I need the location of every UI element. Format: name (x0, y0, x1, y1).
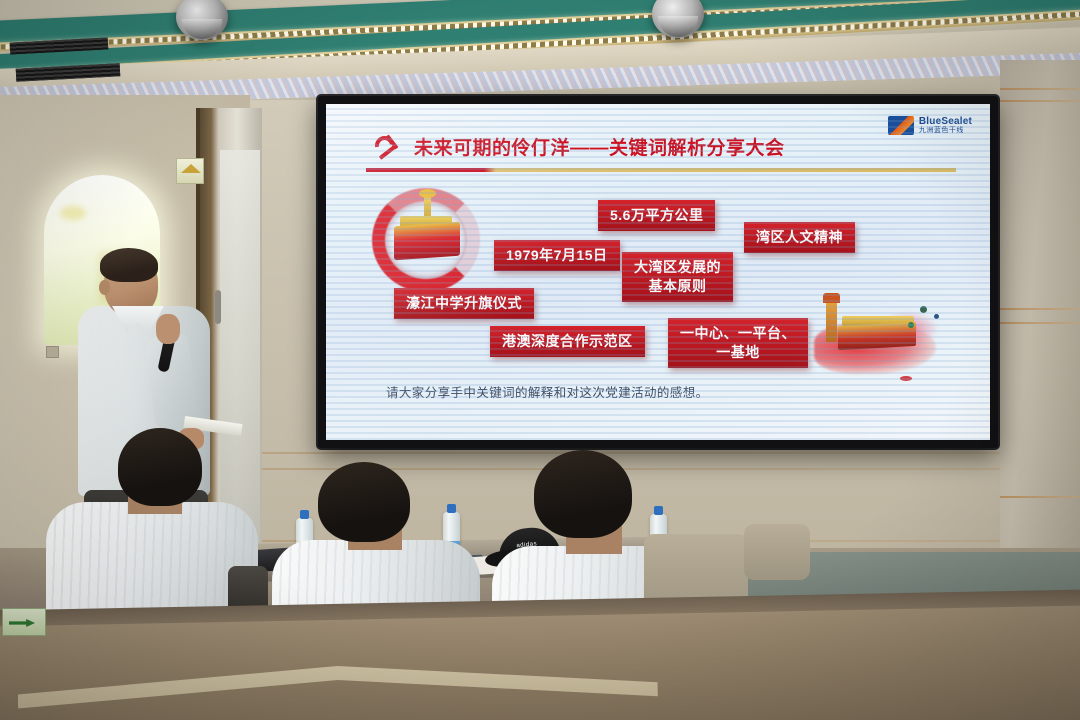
keyword-box-flag: 濠江中学升旗仪式 (394, 288, 534, 319)
audience-hair (118, 428, 202, 506)
keyword-box-area: 5.6万平方公里 (598, 200, 715, 231)
presentation-slide: BlueSealet 九洲蓝色干线 未来可期的伶仃洋——关键词解析分享大会 (326, 104, 990, 440)
wall-seam (1000, 322, 1080, 324)
wall-seam (1000, 496, 1080, 498)
brand-name-en: BlueSealet (919, 117, 972, 128)
foreground-desk-panel (0, 605, 1080, 720)
keyword-box-date: 1979年7月15日 (494, 240, 620, 271)
cpc-hammer-sickle-icon (374, 132, 404, 160)
presenter-hair (100, 248, 158, 282)
red-ink-circle-tiananmen-graphic (372, 188, 480, 292)
slide-title-row: 未来可期的伶仃洋——关键词解析分享大会 (374, 132, 785, 160)
exit-arrow-icon (9, 619, 35, 627)
brand-swoosh-icon (888, 116, 914, 135)
keyword-box-zone: 港澳深度合作示范区 (490, 326, 645, 357)
watercolor-tiananmen-graphic (808, 292, 948, 380)
presenter-hand (156, 314, 180, 344)
wall-sign (176, 158, 204, 184)
led-display-screen[interactable]: BlueSealet 九洲蓝色干线 未来可期的伶仃洋——关键词解析分享大会 (318, 96, 998, 448)
right-wall (1000, 60, 1080, 620)
brand-logo: BlueSealet 九洲蓝色干线 (888, 116, 972, 135)
slide-caption: 请大家分享手中关键词的解释和对这次党建活动的感想。 (386, 382, 906, 401)
audience-hair (318, 462, 410, 542)
keyword-box-spirit: 湾区人文精神 (744, 222, 855, 253)
brand-name-cn: 九洲蓝色干线 (919, 127, 972, 134)
brand-text: BlueSealet 九洲蓝色干线 (919, 117, 972, 135)
presenter-ear (99, 280, 110, 295)
screen-surface: BlueSealet 九洲蓝色干线 未来可期的伶仃洋——关键词解析分享大会 (326, 104, 990, 440)
sign-pictogram-icon (181, 164, 201, 173)
wall-outlet (46, 346, 59, 358)
title-underline-rule (366, 168, 956, 172)
ceiling (0, 0, 1080, 100)
wall-seam (1000, 308, 1080, 310)
chair[interactable] (744, 524, 810, 580)
keyword-box-principle: 大湾区发展的 基本原则 (622, 252, 733, 302)
conference-room-scene: BlueSealet 九洲蓝色干线 未来可期的伶仃洋——关键词解析分享大会 (0, 0, 1080, 720)
exit-sign (2, 608, 46, 636)
wall-seam (1000, 88, 1080, 90)
audience-hair (534, 450, 632, 538)
wall-seam (1000, 100, 1080, 102)
keyword-box-onecenter: 一中心、一平台、 一基地 (668, 318, 808, 368)
slide-title: 未来可期的伶仃洋——关键词解析分享大会 (414, 133, 785, 160)
